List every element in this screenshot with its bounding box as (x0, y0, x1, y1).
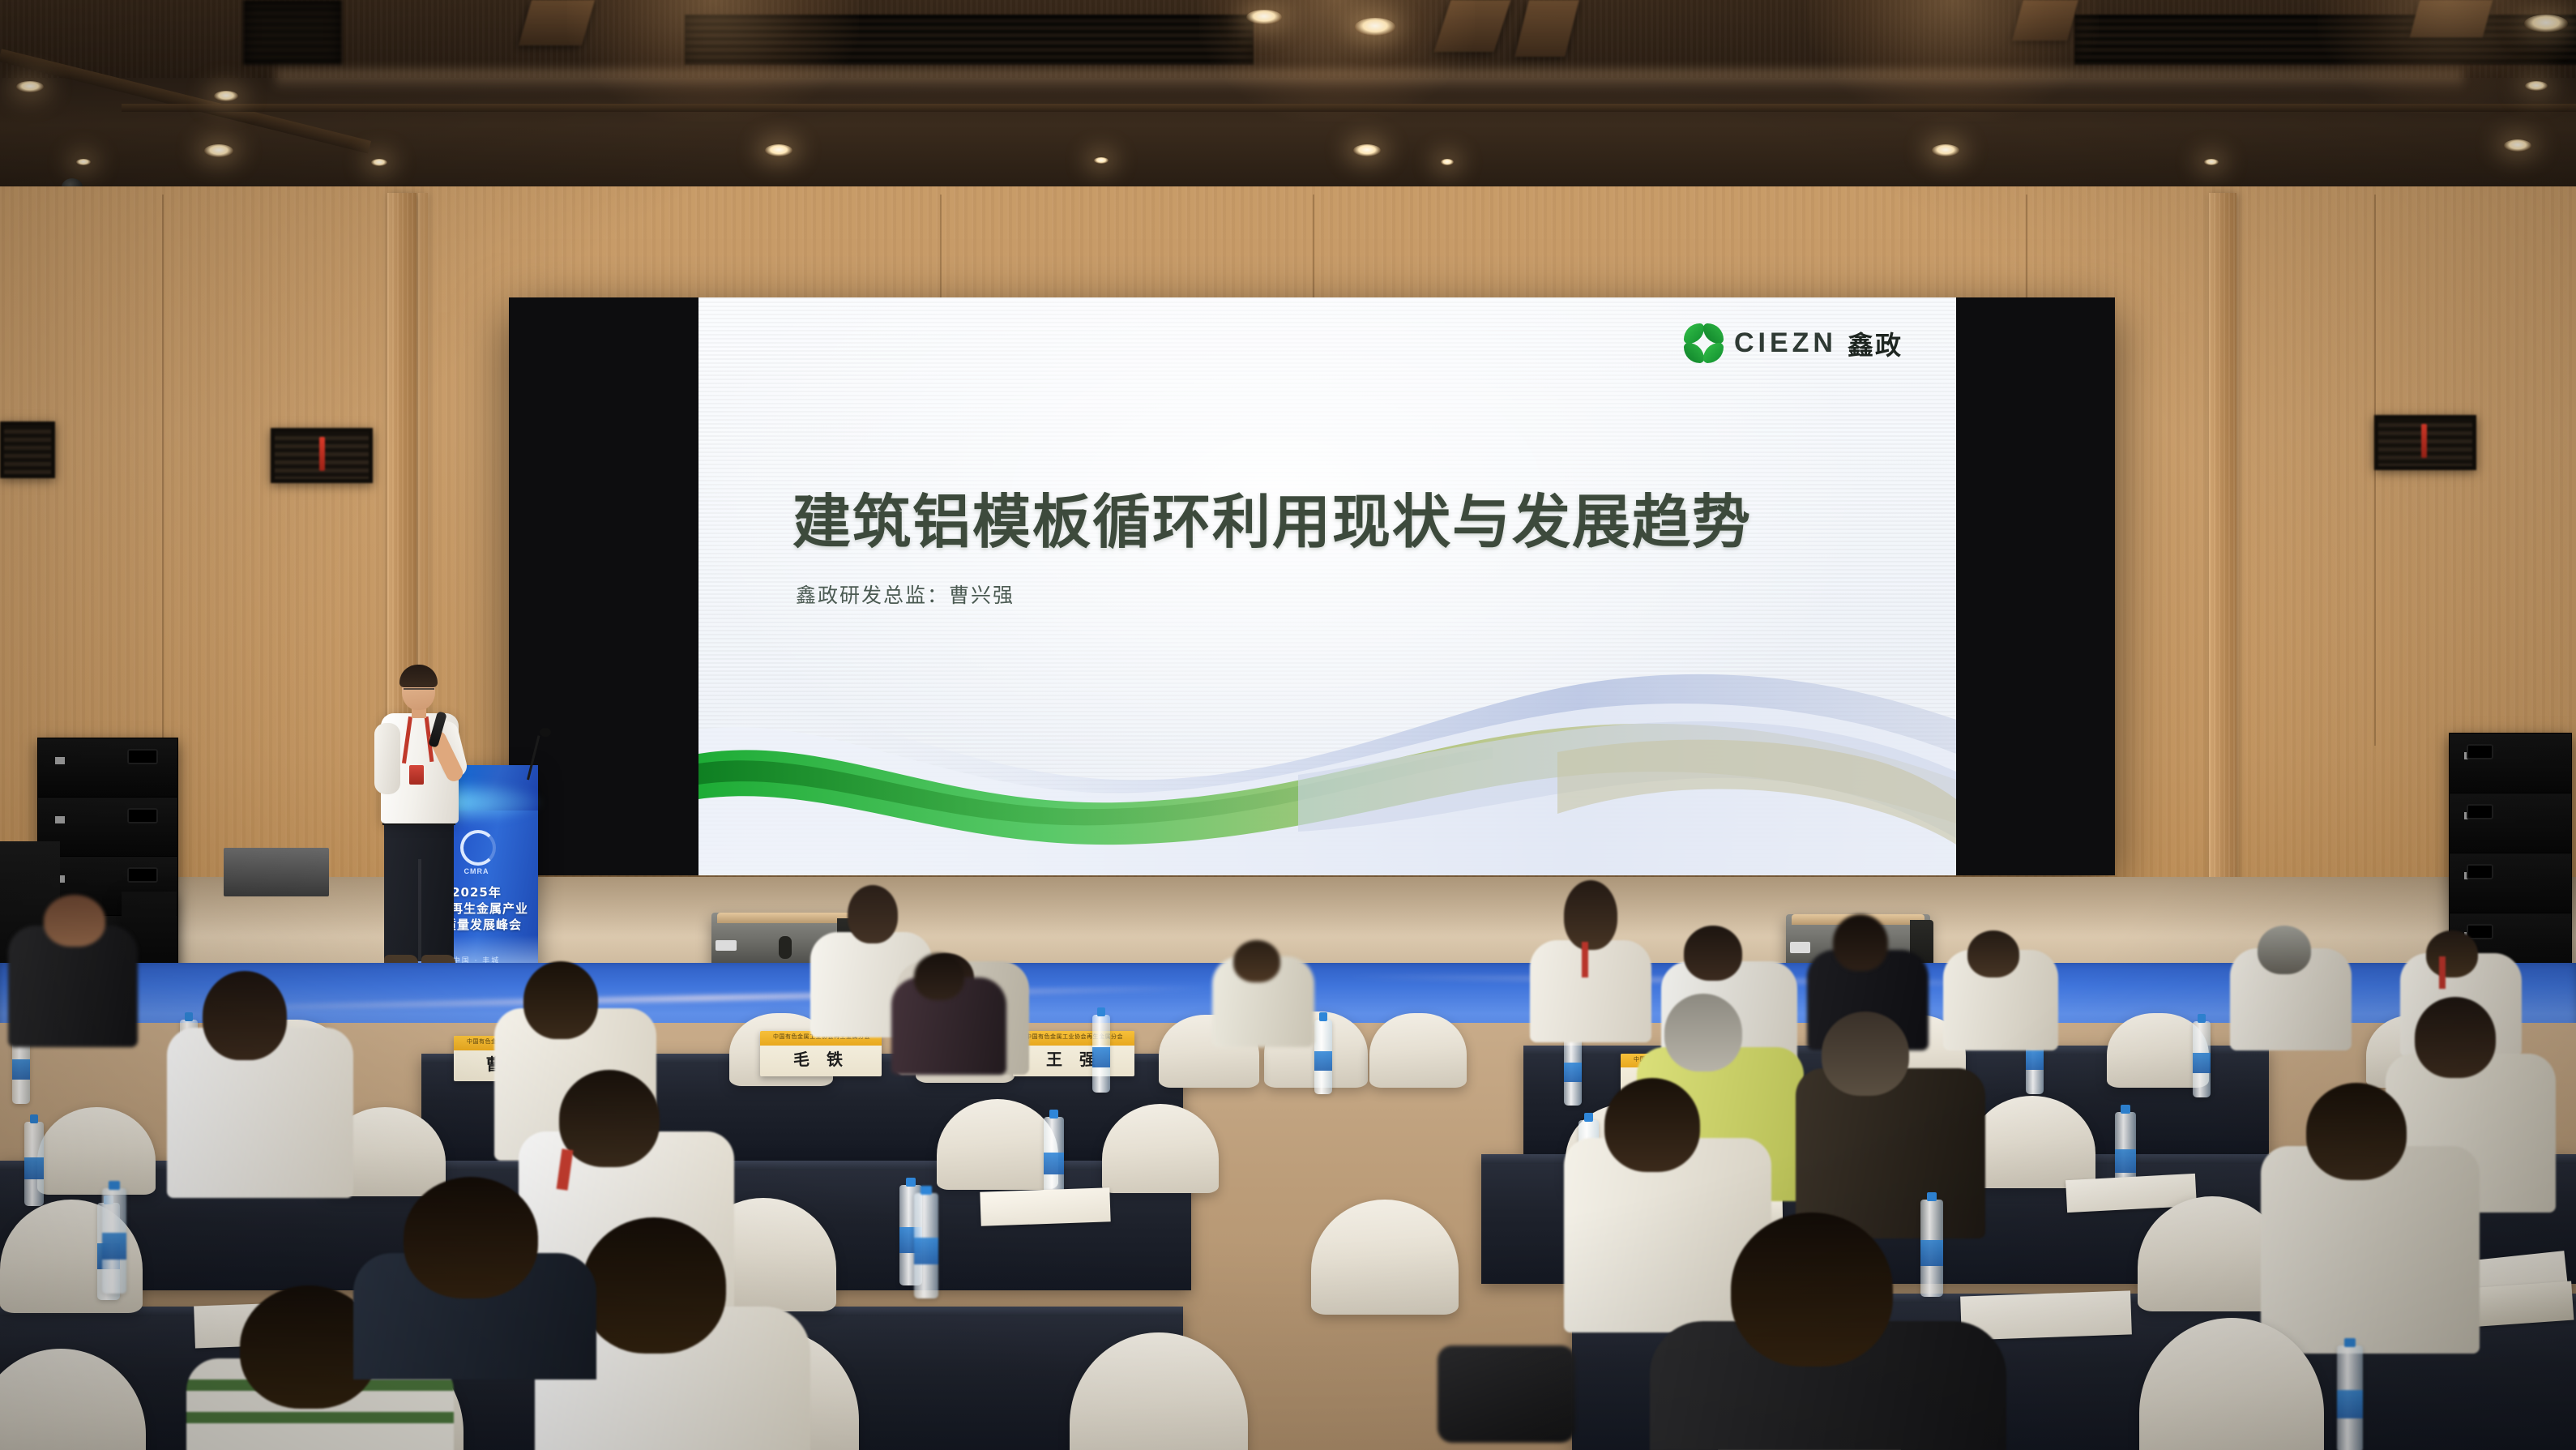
attendee-head (523, 961, 598, 1039)
slide-subtitle: 鑫政研发总监：曹兴强 (796, 580, 1015, 609)
slide-wave-graphic (698, 632, 1956, 875)
ceiling-downlight (1441, 159, 1454, 165)
wall-seam (1313, 195, 1314, 308)
conference-hall-photo: CIEZN 鑫政 建筑铝模板循环利用现状与发展趋势 鑫政研发总监：曹兴强 CMR… (0, 0, 2576, 1450)
name-card-org-strip: 中国有色金属工业协会再生金属分会 (1013, 1031, 1134, 1046)
audience-chair (1369, 1013, 1467, 1088)
attendee-head (2258, 926, 2311, 974)
attendee-head (2415, 997, 2496, 1078)
presenter-badge (409, 765, 424, 785)
water-bottle (914, 1193, 938, 1298)
ceiling-downlight (1932, 144, 1959, 156)
ceiling-downlight (1094, 157, 1109, 164)
ceiling-beam (519, 0, 595, 45)
presenter-glasses (404, 688, 434, 697)
attendee-head (1564, 880, 1617, 950)
cmra-label: CMRA (460, 867, 493, 875)
water-bottle (1092, 1015, 1110, 1093)
cmra-ring-icon (460, 830, 496, 866)
wall-pillar (2209, 193, 2236, 890)
water-bottle (1314, 1020, 1332, 1094)
logo-wordmark: CIEZN (1734, 327, 1837, 359)
attendee-head (1731, 1213, 1893, 1367)
attendee-head (848, 885, 898, 943)
attendee-head (1967, 930, 2019, 977)
place-name-card: 中国有色金属工业协会再生金属分会 毛 铁 (760, 1031, 882, 1076)
water-bottle (2193, 1021, 2211, 1097)
attendee-head (203, 971, 287, 1060)
stage-riser-step (224, 848, 329, 896)
attendee-bag (1438, 1345, 1575, 1443)
water-bottle (102, 1188, 126, 1294)
presenter-left-sleeve (374, 723, 400, 794)
ceiling-downlight (1355, 18, 1395, 36)
attendee-head (2306, 1083, 2407, 1180)
wall-vent-panel (2374, 415, 2476, 470)
water-bottle (1920, 1200, 1943, 1297)
place-name-card: 中国有色金属工业协会再生金属分会 王 强 (1013, 1031, 1134, 1076)
attendee-head (559, 1070, 660, 1167)
attendee-head (914, 953, 964, 1000)
attendee-head (1684, 926, 1742, 981)
vent-indicator (319, 437, 325, 471)
wall-seam (2374, 195, 2376, 746)
attendee-head (1822, 1012, 1909, 1096)
table-document (980, 1187, 1110, 1226)
vent-indicator (2421, 424, 2427, 458)
attendee-head (404, 1177, 538, 1298)
wall-vent-panel (0, 421, 55, 478)
ceiling-edge-trim (122, 104, 2576, 112)
name-card-name: 王 强 (1013, 1046, 1134, 1070)
ceiling-downlight (1246, 10, 1282, 24)
ceiling-beam (2012, 0, 2078, 41)
ceiling-downlight (765, 144, 792, 156)
ceiling-downlight (16, 81, 44, 92)
ceiling-grille-panel (685, 15, 1254, 65)
ceiling-grille-panel (243, 0, 342, 65)
attendee-head (1833, 914, 1888, 971)
name-card-org-text: 中国有色金属工业协会再生金属分会 (1013, 1031, 1134, 1041)
attendee-head (582, 1217, 726, 1354)
logo-wordmark-cn: 鑫政 (1848, 325, 1903, 362)
attendee-head (2426, 930, 2478, 977)
ceiling-cove-light (276, 70, 2463, 91)
attendee-lanyard (2439, 956, 2446, 989)
ceiling-downlight (1353, 144, 1381, 156)
ceiling-downlight (371, 159, 387, 166)
attendee-head (44, 895, 105, 947)
attendee-body (1530, 940, 1651, 1042)
led-presentation-screen[interactable]: CIEZN 鑫政 建筑铝模板循环利用现状与发展趋势 鑫政研发总监：曹兴强 (698, 297, 1956, 875)
ceiling-downlight (2204, 159, 2219, 165)
podium-microphone-capsule (540, 728, 551, 737)
attendee-lanyard (1582, 942, 1588, 977)
ceiling-downlight (214, 91, 238, 101)
ceiling-downlight (2525, 81, 2548, 91)
presenter-leg-seam (418, 859, 421, 961)
ceiling-beam (2410, 0, 2493, 37)
water-bottle (2337, 1345, 2363, 1450)
wall-seam (162, 195, 164, 762)
ceiling-downlight (2504, 139, 2531, 152)
name-card-name: 毛 铁 (760, 1046, 882, 1070)
attendee-head (1664, 994, 1742, 1071)
attendee-head (1604, 1078, 1700, 1172)
ceiling-grille-panel (2074, 15, 2576, 65)
slide-title: 建筑铝模板循环利用现状与发展趋势 (792, 474, 1927, 559)
ceiling-downlight (76, 159, 91, 165)
attendee-head (1233, 940, 1280, 982)
water-bottle (24, 1122, 44, 1206)
wall-vent-panel (271, 428, 373, 483)
ciezn-pinwheel-icon (1684, 323, 1724, 363)
slide-brand-logo: CIEZN 鑫政 (1684, 323, 1903, 363)
ceiling-downlight (2524, 15, 2568, 32)
cmra-emblem: CMRA (460, 830, 493, 862)
ceiling-downlight (204, 144, 233, 157)
